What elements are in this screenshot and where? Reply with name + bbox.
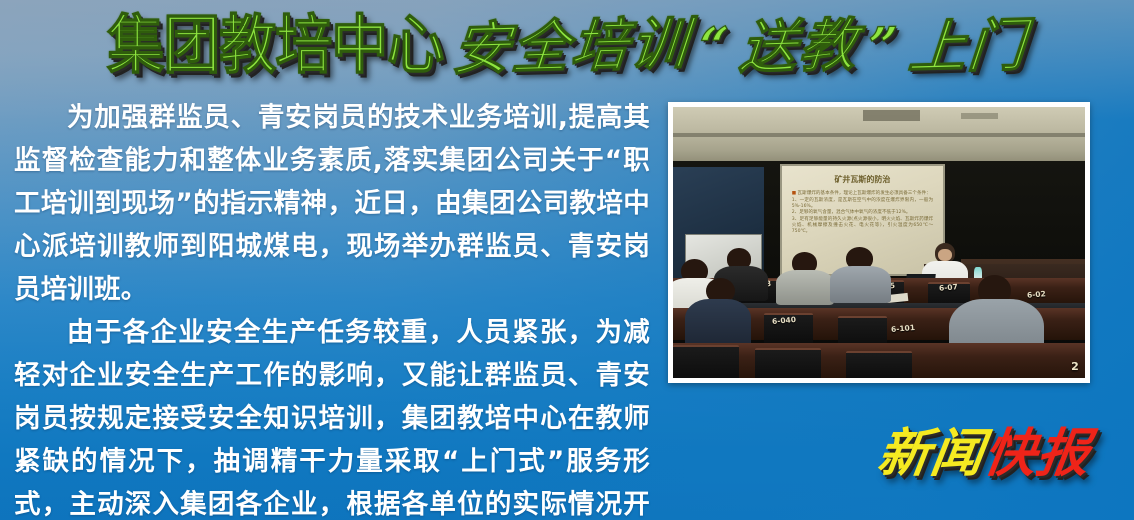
photo-seat-label: 6-040 bbox=[772, 315, 797, 326]
slide-title: 矿井瓦斯的防治 bbox=[782, 174, 943, 185]
slide-line-3: 3、足有足够能量的持久火源(点火源很小，明火火焰、瓦斯炸药爆炸火焰、机械摩擦及撞… bbox=[792, 217, 933, 236]
slide-bullet: ■ 瓦斯爆炸的基本条件，理论上瓦斯爆炸的发生必须具备三个条件： bbox=[792, 191, 933, 197]
article-body: 为加强群监员、青安岗员的技术业务培训,提高其监督检查能力和整体业务素质,落实集团… bbox=[14, 96, 650, 520]
photo-ceiling-vent bbox=[863, 110, 921, 120]
photo-ceiling-beam bbox=[673, 133, 1085, 137]
news-poster: 集团教培中心 安全培训 “ 送教 ” 上门 为加强群监员、青安岗员的技术业务培训… bbox=[0, 0, 1134, 520]
photo-attendee-body bbox=[776, 270, 834, 305]
slide-bullet-text: 瓦斯爆炸的基本条件，理论上瓦斯爆炸的发生必须具备三个条件： bbox=[798, 191, 931, 196]
title-organization: 集团教培中心 bbox=[107, 14, 443, 78]
title-topic-part3: 上门 bbox=[906, 16, 1029, 76]
slide-line-1: 1、一定的瓦斯浓度，是瓦斯在空气中的浓度在爆炸界限内，一般为5%-16%。 bbox=[792, 198, 933, 211]
photo-attendee-body bbox=[830, 266, 892, 304]
photo-seat-label: 6-101 bbox=[891, 323, 916, 334]
news-badge-part-1: 新闻 bbox=[874, 424, 988, 484]
photo-seat-back bbox=[755, 348, 821, 378]
classroom-photo: 矿井瓦斯的防治 ■ 瓦斯爆炸的基本条件，理论上瓦斯爆炸的发生必须具备三个条件： … bbox=[673, 107, 1085, 378]
photo-seat-label: 6-07 bbox=[938, 282, 957, 293]
slide-bullet-marker: ■ bbox=[792, 191, 796, 196]
title-topic-part2: 送教 bbox=[738, 16, 861, 76]
news-flash-badge: 新闻快报 bbox=[874, 428, 1093, 480]
slide-content: ■ 瓦斯爆炸的基本条件，理论上瓦斯爆炸的发生必须具备三个条件： 1、一定的瓦斯浓… bbox=[792, 191, 933, 235]
photo-seat-label: 6-02 bbox=[1027, 289, 1046, 300]
photo-ceiling-vent-2 bbox=[961, 113, 998, 119]
photo-seat-back bbox=[846, 351, 912, 378]
news-badge-part-2: 快报 bbox=[980, 424, 1094, 484]
poster-title: 集团教培中心 安全培训 “ 送教 ” 上门 bbox=[0, 10, 1134, 82]
title-topic-part1: 安全培训 bbox=[451, 14, 692, 77]
photo-teacher-face bbox=[938, 249, 952, 261]
title-quote-close: ” bbox=[866, 21, 901, 72]
photo-frame: 矿井瓦斯的防治 ■ 瓦斯爆炸的基本条件，理论上瓦斯爆炸的发生必须具备三个条件： … bbox=[668, 102, 1090, 383]
article-paragraph-2: 由于各企业安全生产任务较重，人员紧张，为减轻对企业安全生产工作的影响，又能让群监… bbox=[14, 311, 650, 520]
article-paragraph-1: 为加强群监员、青安岗员的技术业务培训,提高其监督检查能力和整体业务素质,落实集团… bbox=[14, 96, 650, 311]
photo-corner-number: 2 bbox=[1071, 360, 1079, 373]
photo-seat-back bbox=[673, 345, 739, 378]
photo-ceiling bbox=[673, 107, 1085, 164]
title-quote-open: “ bbox=[697, 21, 732, 72]
